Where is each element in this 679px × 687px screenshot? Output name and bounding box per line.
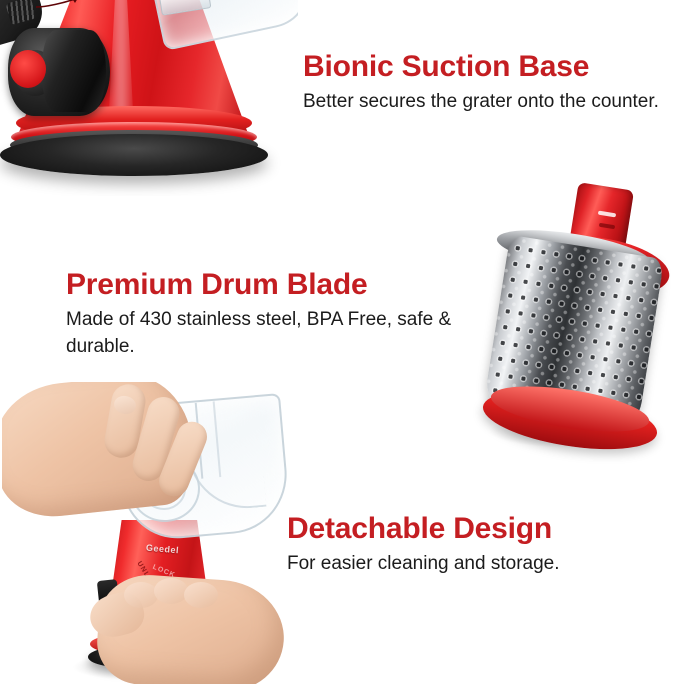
feature-block-premium-drum-blade: Premium Drum Blade Made of 430 stainless… xyxy=(66,268,486,360)
knuckle xyxy=(124,582,158,608)
product-infographic-page: LOCK Geedel LOCK UNLOCK xyxy=(0,0,679,687)
photo-red-grater-base-with-suction-cup: LOCK xyxy=(0,0,298,196)
photo-hands-detaching-clear-lid: Geedel LOCK UNLOCK xyxy=(2,382,294,684)
photo-stainless-steel-drum-blade xyxy=(462,182,676,472)
feature-block-detachable-design: Detachable Design For easier cleaning an… xyxy=(287,512,677,577)
knuckle xyxy=(184,582,218,608)
suction-pad-icon xyxy=(0,134,268,176)
knob-center-red-dot xyxy=(10,50,46,88)
feature-title: Bionic Suction Base xyxy=(303,50,675,84)
knob-face xyxy=(42,30,106,112)
feature-title: Premium Drum Blade xyxy=(66,268,486,302)
lock-direction-arrow-icon xyxy=(34,0,96,10)
feature-title: Detachable Design xyxy=(287,512,677,546)
feature-description: Made of 430 stainless steel, BPA Free, s… xyxy=(66,306,486,360)
feature-block-bionic-suction-base: Bionic Suction Base Better secures the g… xyxy=(303,50,675,115)
knuckle xyxy=(154,578,188,604)
feature-description: For easier cleaning and storage. xyxy=(287,550,677,577)
feature-description: Better secures the grater onto the count… xyxy=(303,88,675,115)
